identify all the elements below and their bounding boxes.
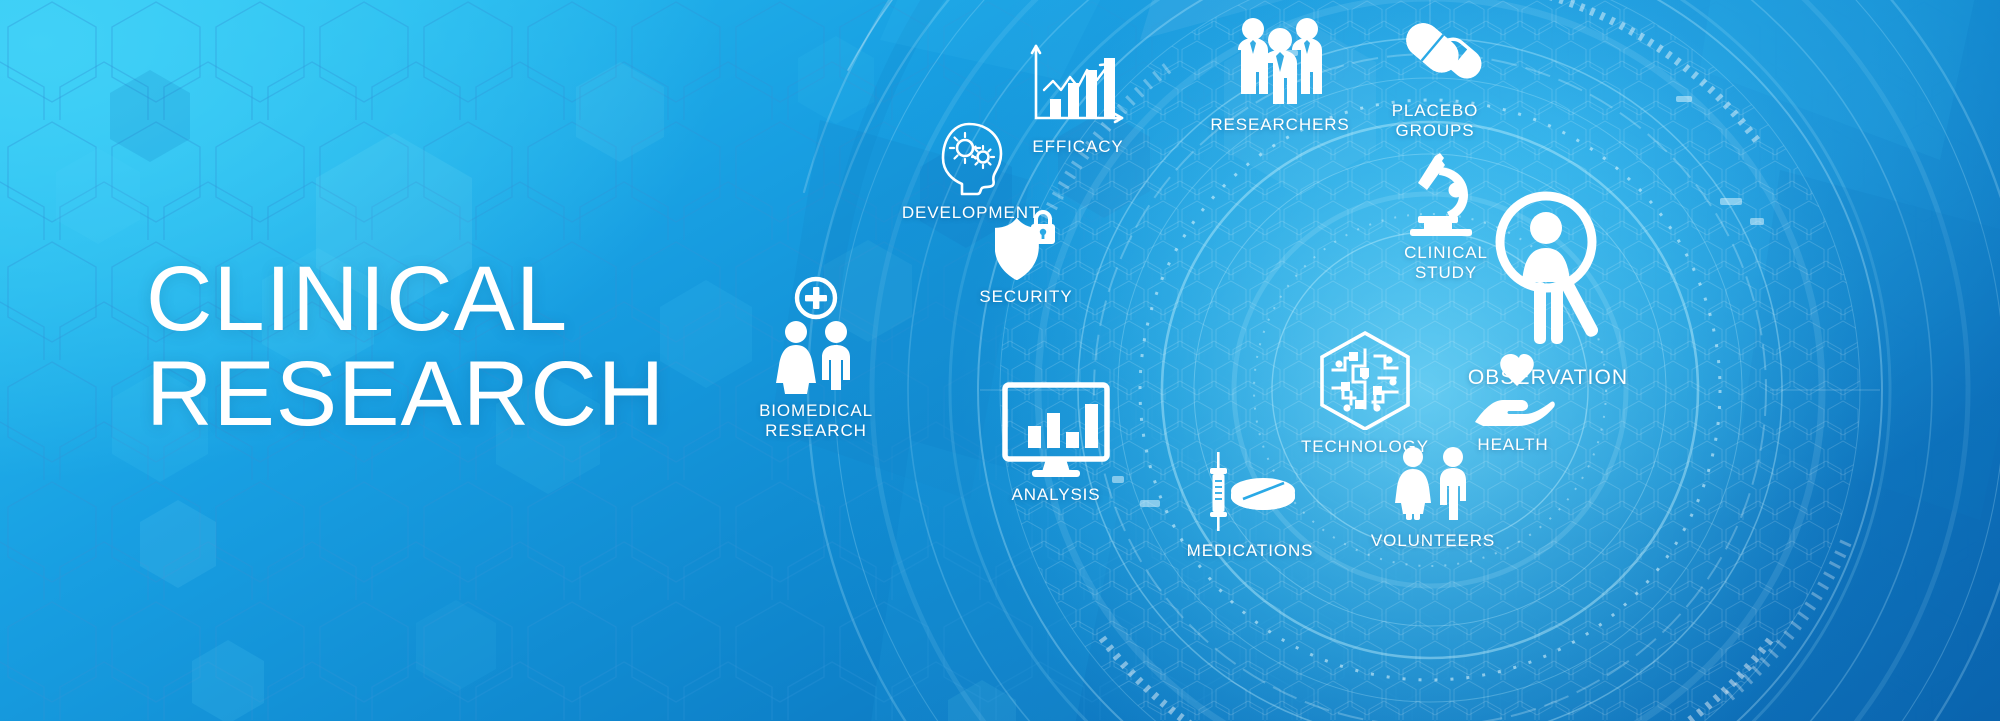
growth-bar-chart-icon xyxy=(1026,42,1130,130)
node-label: RESEARCHERS xyxy=(1210,115,1349,135)
node-label: HEALTH xyxy=(1477,435,1548,455)
node-medications[interactable]: MEDICATIONS xyxy=(1192,452,1308,561)
node-label: SECURITY xyxy=(979,287,1072,307)
page-title: CLINICAL RESEARCH xyxy=(146,252,665,443)
node-label: ANALYSIS xyxy=(1011,485,1100,505)
node-analysis[interactable]: ANALYSIS xyxy=(998,382,1114,505)
node-technology[interactable]: TECHNOLOGY xyxy=(1306,330,1424,457)
microscope-icon xyxy=(1404,150,1488,236)
node-efficacy[interactable]: EFFICACY xyxy=(1022,42,1134,157)
node-label: EFFICACY xyxy=(1032,137,1123,157)
node-clinical-study[interactable]: CLINICAL STUDY xyxy=(1376,150,1516,283)
monitor-bars-icon xyxy=(1002,382,1110,478)
syringe-pill-icon xyxy=(1202,452,1298,534)
node-label: MEDICATIONS xyxy=(1187,541,1314,561)
clinical-research-banner: CLINICAL RESEARCH OBSER xyxy=(0,0,2000,721)
node-researchers[interactable]: RESEARCHERS xyxy=(1216,14,1344,135)
node-biomedical-research[interactable]: BIOMEDICAL RESEARCH xyxy=(752,276,880,441)
node-volunteers[interactable]: VOLUNTEERS xyxy=(1380,446,1486,551)
man-woman-icon xyxy=(1389,446,1477,524)
two-capsules-icon xyxy=(1387,8,1483,94)
node-security[interactable]: SECURITY xyxy=(980,208,1072,307)
node-label: CLINICAL STUDY xyxy=(1376,243,1516,283)
hand-heart-icon xyxy=(1471,352,1555,428)
plus-people-icon xyxy=(770,276,862,394)
node-health[interactable]: HEALTH xyxy=(1466,352,1560,455)
circuit-hexagon-icon xyxy=(1317,330,1413,430)
node-label: VOLUNTEERS xyxy=(1371,531,1495,551)
three-people-suits-icon xyxy=(1232,14,1328,108)
node-label: PLACEBO GROUPS xyxy=(1392,101,1479,141)
shield-lock-icon xyxy=(995,208,1057,280)
node-placebo-groups[interactable]: PLACEBO GROUPS xyxy=(1380,8,1490,141)
head-gears-icon xyxy=(931,118,1011,196)
node-label: BIOMEDICAL RESEARCH xyxy=(759,401,873,441)
